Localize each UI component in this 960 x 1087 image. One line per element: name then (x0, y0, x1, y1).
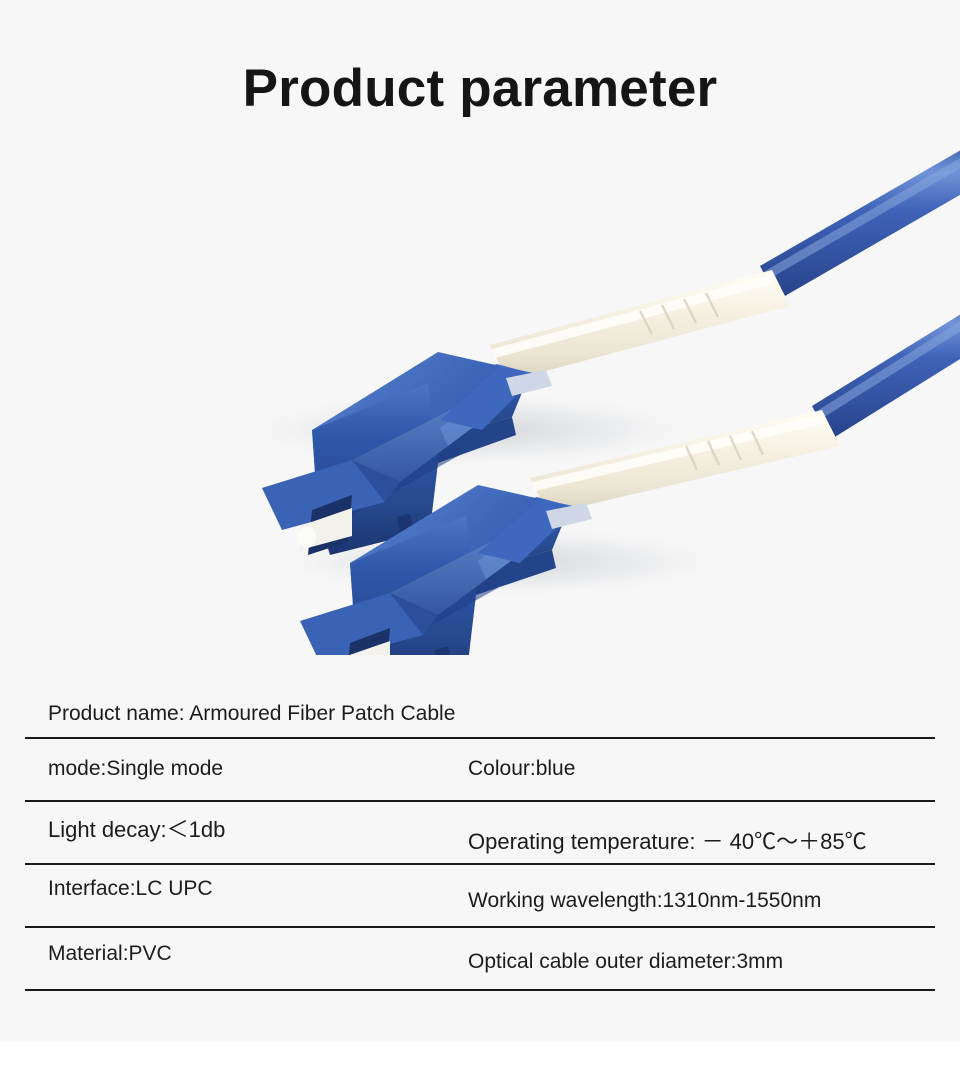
product-photo (0, 130, 960, 655)
table-row: Light decay:＜1db Operating temperature: … (25, 802, 935, 865)
page-title: Product parameter (0, 58, 960, 119)
table-row: Material:PVC Optical cable outer diamete… (25, 928, 935, 991)
spec-product-name: Product name: Armoured Fiber Patch Cable (48, 702, 455, 726)
spec-colour: Colour:blue (468, 757, 575, 781)
spec-working-wavelength: Working wavelength:1310nm-1550nm (468, 889, 821, 913)
spec-operating-temperature: Operating temperature: － 40℃～＋85℃ (468, 824, 867, 856)
table-row: Interface:LC UPC Working wavelength:1310… (25, 865, 935, 928)
product-parameter-page: Product parameter (0, 0, 960, 1087)
table-row: mode:Single mode Colour:blue (25, 739, 935, 802)
spec-light-decay: Light decay:＜1db (48, 812, 225, 844)
ferrule-tip-upper (298, 526, 316, 548)
spec-outer-diameter: Optical cable outer diameter:3mm (468, 950, 783, 974)
table-row: Product name: Armoured Fiber Patch Cable (25, 686, 935, 739)
specification-table: Product name: Armoured Fiber Patch Cable… (25, 686, 935, 991)
spec-mode: mode:Single mode (48, 757, 223, 781)
spec-material: Material:PVC (48, 942, 172, 966)
spec-interface: Interface:LC UPC (48, 877, 213, 901)
